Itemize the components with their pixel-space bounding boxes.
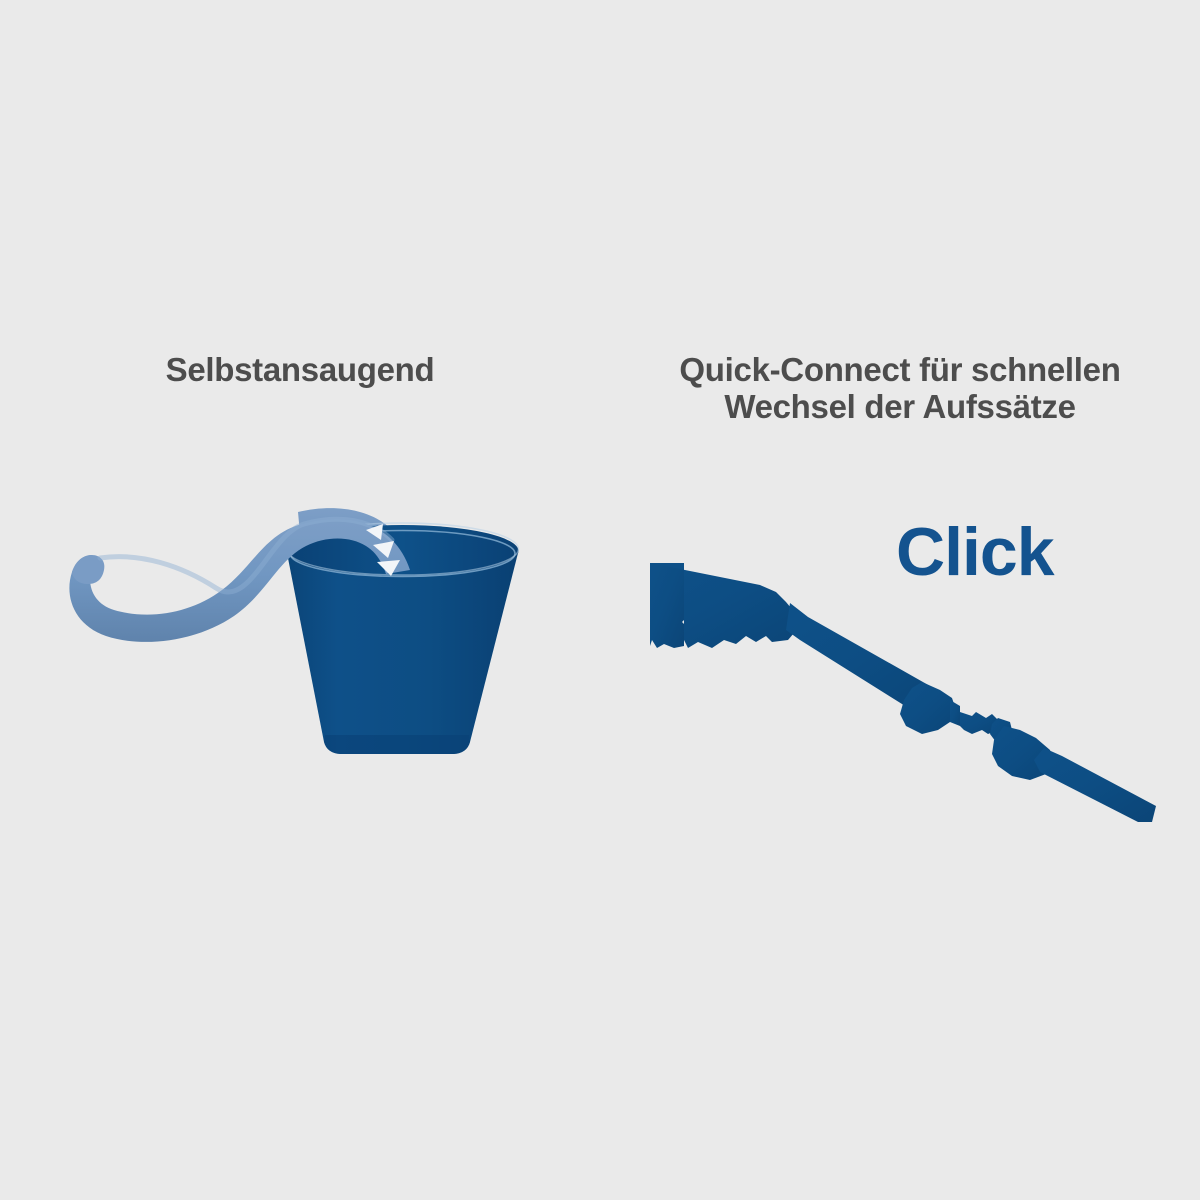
wand-silhouette xyxy=(650,563,1156,822)
infographic-canvas: Selbstansaugend xyxy=(0,0,1200,1200)
bucket xyxy=(287,553,518,754)
illustration-spray-wand-quick-connect xyxy=(600,0,1200,1200)
extension-lance xyxy=(1034,748,1156,822)
panel-selbstansaugend: Selbstansaugend xyxy=(0,0,600,1200)
fan-spray-nozzle-head xyxy=(650,563,684,648)
quick-connect-coupling xyxy=(950,700,960,726)
illustration-bucket-with-suction-hose xyxy=(0,0,600,1200)
panel-quick-connect: Quick-Connect für schnellen Wechsel der … xyxy=(600,0,1200,1200)
